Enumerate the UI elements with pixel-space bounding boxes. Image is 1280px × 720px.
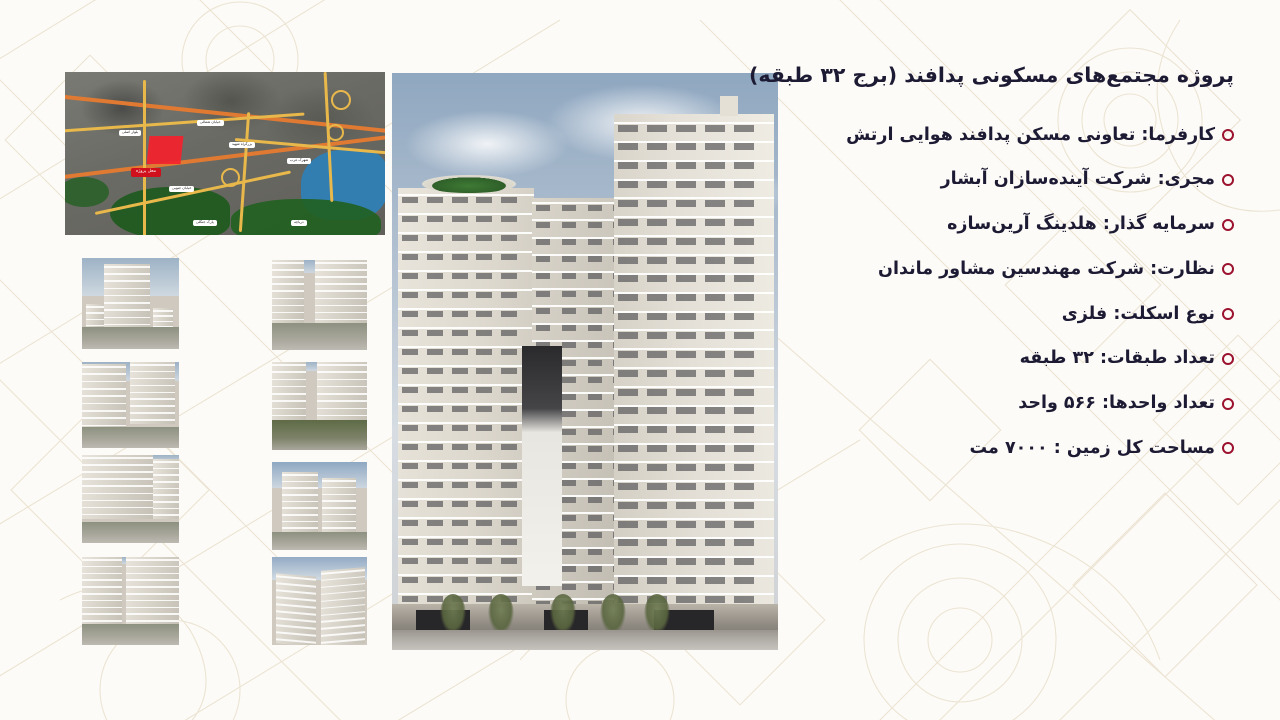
window [452, 197, 468, 203]
facade-line [153, 468, 179, 470]
facade-line [276, 603, 316, 608]
window [676, 181, 696, 188]
facade-line [153, 508, 179, 510]
tower-void-gap [522, 346, 562, 586]
window [647, 162, 667, 169]
facade-line [104, 309, 150, 311]
facade-line [126, 579, 179, 581]
window [501, 254, 517, 260]
window [618, 275, 638, 282]
thumbnail-0 [82, 258, 179, 349]
facade-line [276, 638, 316, 643]
window [676, 219, 696, 226]
window [647, 294, 667, 301]
window [676, 162, 696, 169]
window [452, 368, 468, 374]
thumbnail-5 [272, 462, 367, 550]
window [734, 370, 754, 377]
map-road-vertical-west [143, 80, 146, 235]
window [501, 558, 517, 564]
window [705, 539, 725, 546]
map-roundabout-center [221, 168, 240, 187]
window [452, 406, 468, 412]
list-item-employer: کارفرما: تعاونی مسکن پدافند هوایی ارتش [774, 124, 1234, 147]
window [402, 254, 418, 260]
circle-outline-icon [1222, 442, 1234, 454]
window [562, 515, 576, 521]
window [562, 549, 576, 555]
window [734, 426, 754, 433]
window [734, 143, 754, 150]
window [676, 483, 696, 490]
window [618, 200, 638, 207]
thumb-building-secondary [317, 362, 367, 420]
window [734, 407, 754, 414]
window [501, 349, 517, 355]
window [676, 558, 696, 565]
window [562, 394, 576, 400]
window [536, 256, 550, 262]
window [501, 501, 517, 507]
facade-line [153, 321, 173, 323]
window [705, 464, 725, 471]
thumb-building [82, 455, 153, 519]
window [705, 596, 725, 603]
list-item-floor-count: تعداد طبقات: ۳۲ طبقه [774, 347, 1234, 370]
window [562, 205, 576, 211]
window [476, 216, 492, 222]
window [647, 539, 667, 546]
window [536, 291, 550, 297]
window [476, 292, 492, 298]
window [452, 577, 468, 583]
window [705, 219, 725, 226]
list-item-unit-count: تعداد واحدها: ۵۶۶ واحد [774, 392, 1234, 415]
facade-line [282, 501, 318, 503]
facade-line [82, 457, 153, 459]
window [734, 125, 754, 132]
window [501, 444, 517, 450]
map-label-1: خیابان شمالی [197, 120, 224, 126]
window [427, 254, 443, 260]
facade-line [126, 586, 179, 588]
window [562, 480, 576, 486]
facade-line [82, 620, 122, 622]
facade-line [272, 364, 306, 366]
window [452, 330, 468, 336]
facade-line [322, 480, 356, 482]
facade-line [153, 461, 179, 463]
window [618, 238, 638, 245]
window [476, 368, 492, 374]
facade-line [272, 379, 306, 381]
facade-line [82, 373, 126, 375]
window [476, 425, 492, 431]
window [647, 332, 667, 339]
circle-outline-icon [1222, 263, 1234, 275]
window [452, 216, 468, 222]
list-item-structure-type: نوع اسکلت: فلزی [774, 303, 1234, 326]
facade-line [153, 501, 179, 503]
window [427, 197, 443, 203]
facade-line [272, 312, 304, 314]
window [476, 330, 492, 336]
circle-outline-icon [1222, 219, 1234, 231]
facade-line [315, 312, 367, 314]
facade-line [321, 617, 365, 622]
window [501, 482, 517, 488]
window [588, 446, 602, 452]
facade-line [321, 569, 365, 574]
facade-line [82, 388, 126, 390]
facade-line [153, 494, 179, 496]
thumbnail-1 [272, 260, 367, 350]
facade-line [126, 620, 179, 622]
window [402, 444, 418, 450]
thumb-ground [272, 532, 367, 550]
window [588, 515, 602, 521]
window [562, 429, 576, 435]
map-label-0: بلوار اصلی [119, 130, 141, 136]
facade-line [130, 378, 175, 380]
window [402, 349, 418, 355]
window [647, 407, 667, 414]
facade-line [315, 305, 367, 307]
facade-line [130, 419, 175, 421]
facade-line [82, 410, 126, 412]
window [618, 539, 638, 546]
window [402, 292, 418, 298]
window [705, 313, 725, 320]
map-label-4: خیابان جنوبی [169, 186, 194, 192]
window [647, 370, 667, 377]
facade-line [282, 507, 318, 509]
window [734, 502, 754, 509]
window [705, 257, 725, 264]
window [427, 444, 443, 450]
facade-line [82, 514, 153, 516]
window [501, 387, 517, 393]
facade-line [282, 521, 318, 523]
window [501, 425, 517, 431]
window [618, 125, 638, 132]
map-project-plot-highlight [147, 136, 184, 164]
facade-line [315, 276, 367, 278]
window [452, 349, 468, 355]
window [647, 143, 667, 150]
facade-line [272, 298, 304, 300]
window [618, 389, 638, 396]
window [676, 426, 696, 433]
tower-right-floor-lines [614, 114, 774, 650]
window [476, 596, 492, 602]
window [501, 216, 517, 222]
window [647, 181, 667, 188]
facade-line [82, 559, 122, 561]
window [402, 197, 418, 203]
list-item-label: سرمایه گذار: هلدینگ آرین‌سازه [947, 213, 1215, 236]
window [588, 205, 602, 211]
window [501, 463, 517, 469]
window [705, 181, 725, 188]
window [402, 311, 418, 317]
facade-line [82, 366, 126, 368]
window [427, 330, 443, 336]
window [452, 425, 468, 431]
window [452, 444, 468, 450]
window [402, 463, 418, 469]
facade-line [86, 312, 104, 314]
window [588, 325, 602, 331]
thumb-building [82, 557, 122, 625]
window [562, 377, 576, 383]
facade-line [282, 527, 318, 529]
window [536, 273, 550, 279]
thumbnail-2 [82, 362, 179, 448]
window [588, 480, 602, 486]
thumb-building [272, 260, 304, 324]
window [705, 143, 725, 150]
window [676, 238, 696, 245]
window [402, 558, 418, 564]
street-tree-2 [488, 594, 514, 634]
facade-line [322, 521, 356, 523]
facade-line [86, 306, 104, 308]
window [734, 577, 754, 584]
window [618, 313, 638, 320]
facade-line [317, 408, 367, 410]
window [476, 235, 492, 241]
window [501, 273, 517, 279]
window [452, 387, 468, 393]
street-tree-3 [550, 594, 576, 634]
window [562, 463, 576, 469]
facade-line [317, 379, 367, 381]
facade-line [276, 575, 316, 580]
window [452, 501, 468, 507]
window [618, 370, 638, 377]
window [734, 351, 754, 358]
window [734, 483, 754, 490]
map-project-location-label: محل پروژه [131, 168, 161, 177]
window [588, 291, 602, 297]
window [647, 125, 667, 132]
facade-line [82, 417, 126, 419]
window [476, 501, 492, 507]
rooftop-box [720, 96, 738, 116]
window [734, 389, 754, 396]
window [734, 257, 754, 264]
facade-line [82, 403, 126, 405]
facade-line [276, 624, 316, 629]
window [402, 406, 418, 412]
facade-line [276, 631, 316, 636]
main-project-render [392, 73, 778, 650]
thumb-building-secondary [315, 260, 367, 324]
window [536, 222, 550, 228]
list-item-label: مجری: شرکت آینده‌سازان آبشار [941, 168, 1215, 191]
window [618, 464, 638, 471]
facade-line [315, 283, 367, 285]
thumb-building [282, 472, 318, 532]
window [676, 200, 696, 207]
thumb-building-secondary [86, 304, 104, 329]
thumb-building [104, 264, 150, 329]
thumb-ground [82, 624, 179, 645]
window [427, 539, 443, 545]
window [734, 464, 754, 471]
window [402, 577, 418, 583]
facade-line [321, 611, 365, 616]
window [618, 332, 638, 339]
window [476, 558, 492, 564]
window [705, 351, 725, 358]
window [402, 235, 418, 241]
window [647, 275, 667, 282]
window [618, 257, 638, 264]
facade-line [272, 319, 304, 321]
window [618, 407, 638, 414]
window [734, 539, 754, 546]
thumb-building-secondary [153, 459, 179, 519]
window [618, 294, 638, 301]
facade-line [272, 408, 306, 410]
window [676, 596, 696, 603]
window [647, 426, 667, 433]
facade-line [276, 589, 316, 594]
window [676, 125, 696, 132]
window [734, 596, 754, 603]
window [676, 294, 696, 301]
facade-line [317, 415, 367, 417]
window [618, 219, 638, 226]
window [588, 429, 602, 435]
window [536, 205, 550, 211]
window [562, 360, 576, 366]
facade-line [82, 485, 153, 487]
window [402, 482, 418, 488]
project-info-panel: پروژه مجتمع‌های مسکونی پدافند (برج ۳۲ طب… [774, 62, 1234, 482]
map-label-6: دریاچه [291, 220, 307, 226]
facade-line [104, 295, 150, 297]
facade-line [276, 596, 316, 601]
window [476, 444, 492, 450]
window [705, 389, 725, 396]
window [501, 292, 517, 298]
thumb-ground [82, 522, 179, 543]
thumb-ground [82, 427, 179, 448]
window [705, 125, 725, 132]
street-tree-1 [440, 594, 466, 634]
facade-line [272, 386, 306, 388]
window [618, 181, 638, 188]
window [676, 502, 696, 509]
window [427, 387, 443, 393]
window [647, 502, 667, 509]
facade-line [104, 273, 150, 275]
street-tree-5 [644, 594, 670, 634]
window [427, 368, 443, 374]
window [402, 425, 418, 431]
window [452, 539, 468, 545]
window [647, 313, 667, 320]
window [676, 313, 696, 320]
thumb-building [82, 364, 126, 430]
window [402, 216, 418, 222]
window [705, 558, 725, 565]
facade-line [82, 500, 153, 502]
window [734, 200, 754, 207]
map-roundabout-northeast [327, 124, 344, 141]
window [705, 294, 725, 301]
window [402, 387, 418, 393]
facade-line [82, 600, 122, 602]
window [705, 162, 725, 169]
list-item-label: کارفرما: تعاونی مسکن پدافند هوایی ارتش [846, 124, 1215, 147]
window [676, 351, 696, 358]
window [536, 239, 550, 245]
window [562, 411, 576, 417]
window [476, 520, 492, 526]
street-tree-4 [600, 594, 626, 634]
facade-line [82, 613, 122, 615]
window [452, 558, 468, 564]
window [427, 501, 443, 507]
facade-line [276, 582, 316, 587]
facade-line [126, 600, 179, 602]
window [476, 387, 492, 393]
window [476, 273, 492, 279]
window [588, 566, 602, 572]
thumb-building-secondary [321, 567, 365, 645]
presentation-slide: محل پروژه بلوار اصلی خیابان شمالی بزرگرا… [0, 0, 1280, 720]
facade-line [315, 298, 367, 300]
facade-line [82, 573, 122, 575]
facade-line [82, 395, 126, 397]
window [676, 521, 696, 528]
facade-line [153, 481, 179, 483]
window [476, 406, 492, 412]
list-item-label: تعداد طبقات: ۳۲ طبقه [1020, 347, 1215, 370]
facade-line [317, 371, 367, 373]
list-item-land-area: مساحت کل زمین : ۷۰۰۰ مت [774, 437, 1234, 460]
window [476, 254, 492, 260]
window [501, 197, 517, 203]
window [647, 200, 667, 207]
window [501, 539, 517, 545]
facade-line [82, 593, 122, 595]
window [676, 143, 696, 150]
window [562, 497, 576, 503]
window [501, 235, 517, 241]
window [402, 539, 418, 545]
window [427, 463, 443, 469]
window [618, 483, 638, 490]
facade-line [322, 514, 356, 516]
facade-line [153, 514, 179, 516]
facade-line [272, 283, 304, 285]
window [676, 370, 696, 377]
facade-line [82, 425, 126, 427]
facade-line [315, 319, 367, 321]
window [734, 332, 754, 339]
window [705, 200, 725, 207]
window [647, 445, 667, 452]
window [676, 389, 696, 396]
window [452, 292, 468, 298]
window [676, 445, 696, 452]
window [427, 425, 443, 431]
